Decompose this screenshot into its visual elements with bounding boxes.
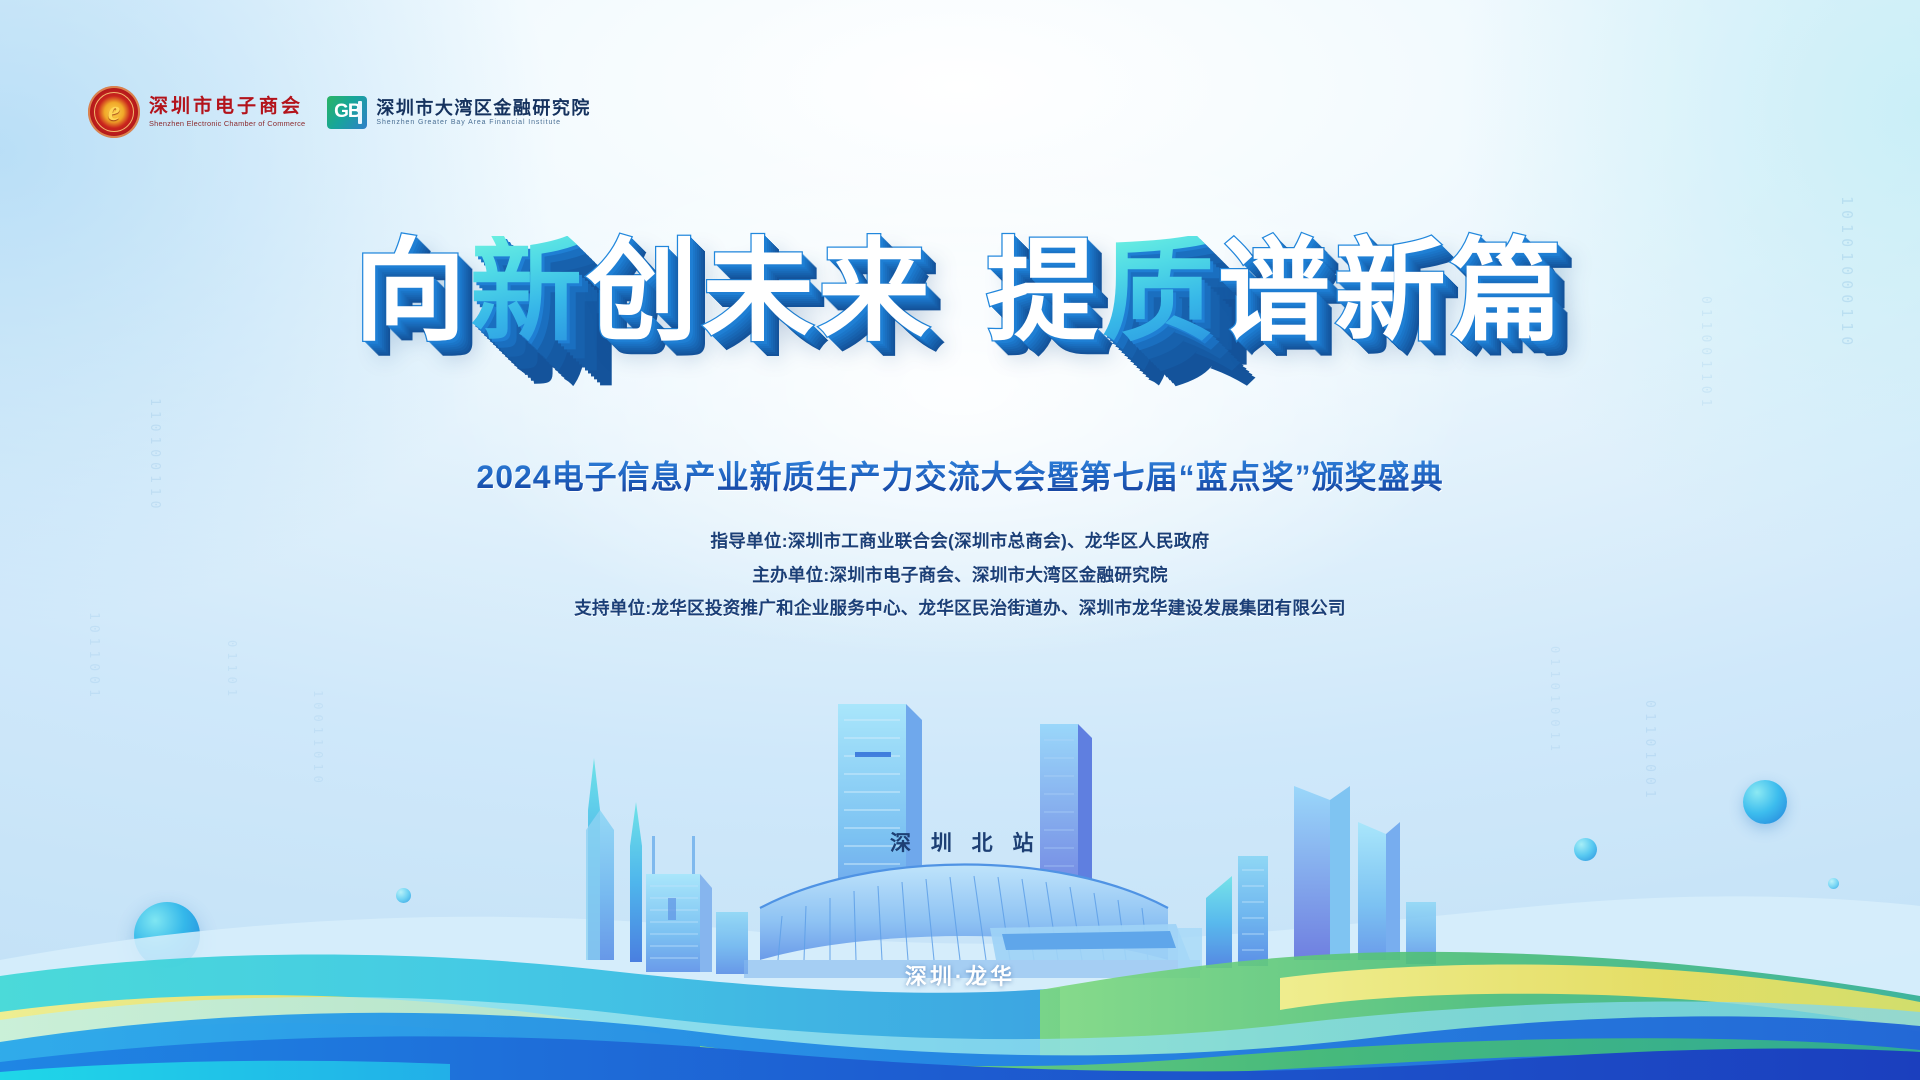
title-char-b-3: 新: [1334, 236, 1450, 348]
logo-shenzhen-electronic-chamber-of-commerce[interactable]: e 深圳市电子商会 Shenzhen Electronic Chamber of…: [88, 86, 305, 138]
main-title-text: 向新创未来提质谱新篇: [354, 236, 1566, 348]
place-name-label: 深圳·龙华: [0, 959, 1920, 991]
title-char-a-2: 创: [586, 236, 702, 348]
title-char-b-0: 提: [986, 236, 1102, 348]
event-subtitle-text: 2024电子信息产业新质生产力交流大会暨第七届“蓝点奖”颁奖盛典: [476, 459, 1443, 495]
cityscape-illustration: [0, 660, 1920, 1080]
title-char-a-4: 来: [818, 236, 934, 348]
chamber-seal-icon: e: [88, 86, 140, 138]
logo-shenzhen-greater-bay-area-financial-institute[interactable]: GB 深圳市大湾区金融研究院 Shenzhen Greater Bay Area…: [327, 96, 591, 129]
banner-stage: 1010100011001100110101101001011010011110…: [0, 0, 1920, 1080]
station-name-label: 深 圳 北 站: [890, 827, 1041, 857]
event-subtitle: 2024电子信息产业新质生产力交流大会暨第七届“蓝点奖”颁奖盛典: [0, 452, 1920, 498]
title-char-b-1: 质: [1102, 236, 1218, 348]
logo-name-en-gbi: Shenzhen Greater Bay Area Financial Inst…: [376, 119, 591, 126]
title-char-b-4: 篇: [1450, 236, 1566, 348]
title-char-a-0: 向: [354, 236, 470, 348]
building-group-left: [586, 758, 748, 974]
organizer-line-support: 支持单位:龙华区投资推广和企业服务中心、龙华区民治街道办、深圳市龙华建设发展集团…: [0, 600, 1920, 618]
seal-letter-e: e: [88, 86, 140, 138]
gbi-mark-icon: GB: [327, 96, 367, 129]
partner-logo-bar: e 深圳市电子商会 Shenzhen Electronic Chamber of…: [88, 86, 591, 138]
background-center-glow: [307, 108, 1613, 734]
title-char-b-2: 谱: [1218, 236, 1334, 348]
title-char-a-3: 未: [702, 236, 818, 348]
building-group-right: [1178, 786, 1436, 970]
main-title-block: 向新创未来提质谱新篇: [0, 236, 1920, 348]
organizer-line-guidance: 指导单位:深圳市工商业联合会(深圳市总商会)、龙华区人民政府: [0, 533, 1920, 551]
logo-name-cn-chamber: 深圳市电子商会: [149, 96, 305, 117]
organizer-block: 指导单位:深圳市工商业联合会(深圳市总商会)、龙华区人民政府 主办单位:深圳市电…: [0, 533, 1920, 634]
title-char-a-1: 新: [470, 236, 586, 348]
logo-name-cn-gbi: 深圳市大湾区金融研究院: [376, 98, 591, 119]
logo-name-en-chamber: Shenzhen Electronic Chamber of Commerce: [149, 119, 305, 128]
organizer-line-host: 主办单位:深圳市电子商会、深圳市大湾区金融研究院: [0, 567, 1920, 585]
